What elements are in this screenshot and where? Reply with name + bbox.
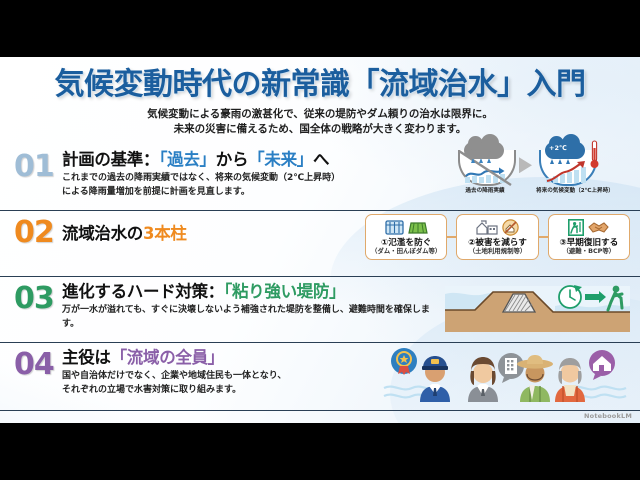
emergency-exit-icon	[568, 219, 584, 236]
past-rainfall-figure: 過去の降雨実績	[455, 144, 515, 194]
point-text-02: 流域治水の3本柱	[60, 216, 365, 243]
connector-line	[447, 236, 456, 238]
desc-line-2: それぞれの立場で水害対策に取り組みます。	[62, 384, 380, 397]
slide-header: 気候変動時代の新常識「流域治水」入門 気候変動による豪雨の激甚化で、従来の堤防や…	[0, 57, 640, 137]
arrow-right-icon	[519, 157, 532, 173]
local-resident-avatar	[555, 358, 585, 402]
row-03-illustration	[445, 280, 630, 332]
dam-icon	[385, 219, 404, 236]
heading-highlight-pillars: 3本柱	[143, 224, 187, 243]
pillar-1-icons	[367, 218, 445, 237]
desc-line-2: による降雨量増加を前提に計画を見直します。	[62, 186, 455, 199]
heading-highlight-future: 「未来」	[248, 150, 313, 169]
connector-line	[539, 236, 548, 238]
household-home-icon	[589, 350, 615, 380]
houses-icon	[476, 219, 498, 236]
company-building-icon	[498, 353, 524, 383]
pillar-card-1[interactable]: ①氾濫を防ぐ （ダム・田んぼダム等）	[365, 214, 447, 260]
point-number-04: 04	[14, 348, 60, 380]
point-text-03: 進化するハード対策：「粘り強い堤防」 万が一水が溢れても、すぐに決壊しないよう補…	[60, 282, 445, 331]
point-desc-01: これまでの過去の降雨実績ではなく、将来の気候変動（2℃上昇時） による降雨量増加…	[62, 172, 455, 198]
water-waves-icon	[384, 387, 626, 398]
point-heading-02: 流域治水の3本柱	[62, 216, 365, 243]
point-text-01: 計画の基準：「過去」から「未来」へ これまでの過去の降雨実績ではなく、将来の気候…	[60, 150, 455, 199]
government-badge-icon	[391, 348, 417, 375]
paddy-field-dam-icon	[408, 219, 428, 236]
pillar-3-icons	[550, 218, 628, 237]
point-text-04: 主役は「流域の全員」 国や自治体だけでなく、企業や地域住民も一体となり、 それぞ…	[60, 348, 380, 397]
thermometer-icon	[590, 140, 599, 170]
infographic-slide: 気候変動時代の新常識「流域治水」入門 気候変動による豪雨の激甚化で、従来の堤防や…	[0, 57, 640, 423]
raindrops-icon	[549, 159, 575, 170]
subtitle-line-1: 気候変動による豪雨の激甚化で、従来の堤防やダム頼りの治水は限界に。	[0, 107, 640, 122]
heading-part-a: 進化するハード対策：	[62, 282, 224, 301]
video-frame: 気候変動時代の新常識「流域治水」入門 気候変動による豪雨の激甚化で、従来の堤防や…	[0, 0, 640, 480]
letterbox-bottom	[0, 423, 640, 480]
rain-cloud-icon	[464, 142, 504, 159]
future-climate-icon: +2℃	[537, 144, 595, 186]
handshake-icon	[588, 219, 609, 236]
point-row-04: 04 主役は「流域の全員」 国や自治体だけでなく、企業や地域住民も一体となり、 …	[0, 342, 640, 411]
heading-part-c: へ	[313, 150, 329, 169]
pillar-2-icons	[458, 218, 536, 237]
heading-part-a: 流域治水の	[62, 224, 143, 243]
letterbox-top	[0, 0, 640, 57]
past-rainfall-caption: 過去の降雨実績	[455, 188, 515, 194]
heading-part-b: から	[216, 150, 248, 169]
heading-highlight-levee: 「粘り強い堤防」	[224, 282, 345, 301]
past-rainfall-icon	[456, 144, 514, 186]
desc-line-1: これまでの過去の降雨実績ではなく、将来の気候変動（2℃上昇時）	[62, 172, 455, 185]
point-row-02: 02 流域治水の3本柱	[0, 210, 640, 276]
point-number-01: 01	[14, 150, 60, 182]
watermark-notebooklm: NotebookLM	[584, 412, 632, 420]
temperature-badge: +2℃	[549, 144, 567, 152]
local-resident-farmer-avatar	[517, 355, 553, 402]
page-title: 気候変動時代の新常識「流域治水」入門	[0, 69, 640, 101]
points-list: 01 計画の基準：「過去」から「未来」へ これまでの過去の降雨実績ではなく、将来…	[0, 145, 640, 411]
point-desc-03: 万が一水が溢れても、すぐに決壊しないよう補強された堤防を整備し、避難時間を確保し…	[62, 304, 445, 330]
pillar-1-subtitle: （ダム・田んぼダム等）	[367, 248, 445, 256]
future-climate-figure: +2℃	[536, 144, 596, 194]
raindrops-icon	[470, 158, 498, 170]
subtitle-line-2: 未来の災害に備えるため、国全体の戦略が大きく変わります。	[0, 122, 640, 137]
point-desc-04: 国や自治体だけでなく、企業や地域住民も一体となり、 それぞれの立場で水害対策に取…	[62, 370, 380, 396]
heading-highlight-everyone: 「流域の全員」	[111, 348, 224, 367]
heading-part-a: 主役は	[62, 348, 111, 367]
pillar-2-subtitle: （土地利用規制等）	[458, 248, 536, 256]
desc-line-1: 万が一水が溢れても、すぐに決壊しないよう補強された堤防を整備し、避難時間を確保し…	[62, 304, 445, 330]
point-heading-01: 計画の基準：「過去」から「未来」へ	[62, 150, 455, 169]
heading-highlight-past: 「過去」	[159, 150, 216, 169]
levee-diagram	[445, 280, 630, 332]
future-climate-caption: 将来の気候変動（2℃上昇時）	[536, 188, 596, 194]
business-person-avatar	[468, 357, 498, 402]
point-row-03: 03 進化するハード対策：「粘り強い堤防」 万が一水が溢れても、すぐに決壊しない…	[0, 276, 640, 342]
pillar-3-subtitle: （避難・BCP等）	[550, 248, 628, 256]
heading-part-a: 計画の基準：	[62, 150, 159, 169]
point-row-01: 01 計画の基準：「過去」から「未来」へ これまでの過去の降雨実績ではなく、将来…	[0, 145, 640, 210]
pillar-card-2[interactable]: ②被害を減らす （土地利用規制等）	[456, 214, 538, 260]
point-heading-04: 主役は「流域の全員」	[62, 348, 380, 367]
pillar-card-3[interactable]: ③早期復旧する （避難・BCP等）	[548, 214, 630, 260]
row-04-illustration	[380, 344, 630, 406]
point-number-02: 02	[14, 216, 60, 248]
government-official-avatar	[420, 356, 450, 402]
desc-line-1: 国や自治体だけでなく、企業や地域住民も一体となり、	[62, 370, 380, 383]
row-01-illustration: 過去の降雨実績 +2℃	[455, 144, 630, 194]
stakeholders-diagram	[380, 344, 630, 406]
row-02-illustration: ①氾濫を防ぐ （ダム・田んぼダム等）	[365, 214, 630, 260]
no-build-zone-icon	[502, 219, 519, 236]
page-subtitle: 気候変動による豪雨の激甚化で、従来の堤防やダム頼りの治水は限界に。 未来の災害に…	[0, 107, 640, 137]
point-heading-03: 進化するハード対策：「粘り強い堤防」	[62, 282, 445, 301]
point-number-03: 03	[14, 282, 60, 314]
